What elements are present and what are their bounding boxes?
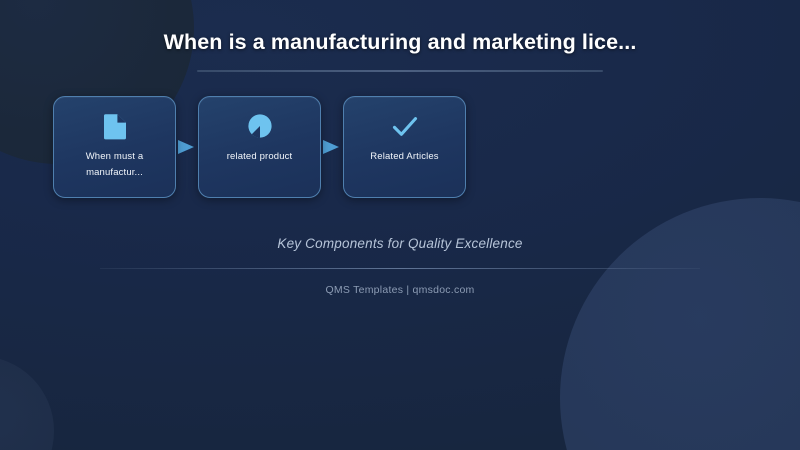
pie-chart-icon [244,110,276,142]
flow-card-3-label: Related Articles [353,149,457,165]
slide-subtitle: Key Components for Quality Excellence [0,236,800,251]
footer-divider [100,268,700,269]
flow-diagram: When must a manufactur... related produc… [53,96,466,198]
flow-arrow-1 [176,96,198,198]
flow-arrow-2 [321,96,343,198]
flow-card-2[interactable]: related product [198,96,321,198]
checkmark-icon [389,110,421,142]
slide-canvas: When is a manufacturing and marketing li… [0,0,800,450]
flow-card-2-label: related product [208,149,312,165]
document-icon [99,110,131,142]
page-title: When is a manufacturing and marketing li… [0,30,800,55]
flow-card-1[interactable]: When must a manufactur... [53,96,176,198]
decorative-circle-bottom-left [0,356,54,450]
slide-footer: QMS Templates | qmsdoc.com [0,284,800,296]
flow-card-3[interactable]: Related Articles [343,96,466,198]
flow-card-1-label: When must a manufactur... [63,149,167,181]
title-divider [197,70,603,72]
